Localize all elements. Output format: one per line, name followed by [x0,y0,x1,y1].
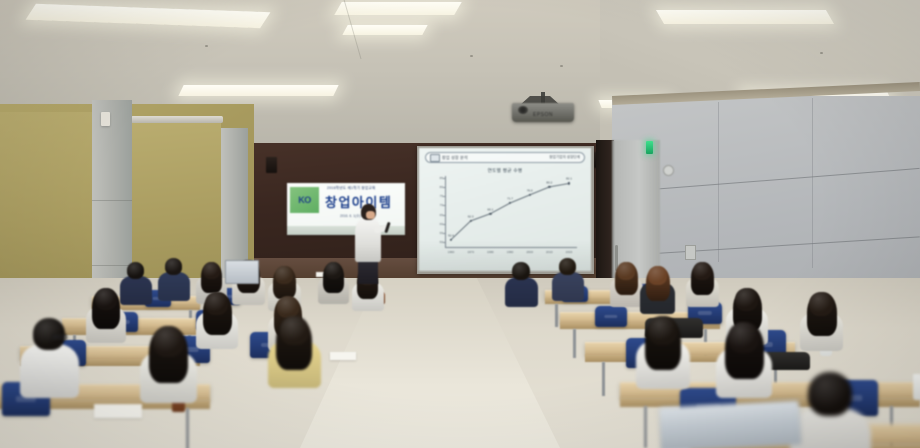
person-head [728,322,759,353]
eyeglasses-icon [52,334,67,340]
person-torso [505,277,538,307]
wall-clock-icon [663,165,674,176]
person-torso [552,272,584,301]
desk-leg [644,406,647,448]
person-head [735,288,758,311]
chart-data-label: 82.1 [566,177,572,181]
ceiling-light [178,85,338,96]
projector: EPSON [512,103,574,122]
person-head [693,262,711,280]
chart-data-label: 52.4 [448,233,454,237]
chart-data-label: 62.3 [468,214,474,218]
chart-line-series [445,176,577,248]
person-head [203,262,220,279]
person-head [127,262,144,279]
wall-panel-divider [812,98,813,268]
column-seam [92,265,132,266]
notebook-paper [94,404,142,418]
person-head [95,288,117,310]
person-head [280,316,309,345]
motion-sensor-icon [101,112,110,126]
chart-x-tick-label: 1960 [448,250,455,254]
person-head [559,258,576,275]
ceiling-speck [205,45,208,47]
slide-header-title: 창업 성장 분석 [442,155,468,161]
chart-x-tick-label: 1970 [467,250,474,254]
desk-leg [186,408,189,448]
banner-subtitle: 2016학년도 제1학기 창업교육 [327,186,375,191]
chair-back-slot [604,315,617,318]
ceiling-speck [470,55,473,57]
person-head [325,262,342,279]
chart-x-tick-label: 2000 [526,250,533,254]
desk-leg [602,362,605,396]
person-head [617,262,635,280]
wall-speaker [266,157,277,173]
exit-sign-icon [646,141,653,154]
chart-y-tick-mark [443,233,445,234]
person-head [512,262,530,280]
desk-leg [555,304,558,327]
person-torso [158,272,190,301]
ceiling-speck [560,65,563,67]
ceiling-speck [820,52,823,54]
banner-logo-text: KO [298,195,311,205]
ceiling-light [334,2,462,15]
person-head [165,258,182,275]
column-seam [92,200,132,201]
person-head [205,292,228,315]
chart-y-tick-mark [443,205,445,206]
person-head [277,296,299,318]
chart-plot-area: 8580757065605550196019701980199020002010… [445,176,577,248]
drink-cup [913,374,920,400]
person-head [648,266,667,285]
chart-y-tick-mark [443,178,445,179]
banner-logo: KO [290,187,319,213]
chair-back-slot [698,311,712,315]
person-head [648,316,677,345]
chart-x-tick-label: 1980 [487,250,494,254]
person-head [808,372,852,416]
slide-header-right: 창업기업의 성장단계 [549,155,580,160]
chart-y-tick-mark [443,224,445,225]
person-head [153,326,184,357]
light-switch-plate[interactable] [685,245,696,260]
desk-leg [573,329,576,358]
projector-brand-label: EPSON [512,112,574,118]
blind-roller[interactable] [131,116,223,123]
person-head [809,292,833,316]
slide-header: 창업 성장 분석 창업기업의 성장단계 [425,152,585,163]
chart-line [451,183,569,239]
chart-x-tick-label: 1990 [507,250,514,254]
person-head [275,266,293,284]
classroom-photo: EPSON KO 2016학년도 제1학기 창업교육 창업아이템 2016. 6… [0,0,920,448]
chart-y-tick-mark [443,187,445,188]
chart-data-label: 71.7 [507,196,513,200]
chair [595,306,627,327]
slide-header-left: 창업 성장 분석 [430,154,468,162]
ceiling-light [656,10,834,24]
notebook-paper [330,352,356,360]
ceiling-light [342,25,427,35]
chart-data-label: 80.2 [546,180,552,184]
person-torso [120,276,152,305]
chart-title: 연도별 평균 수명 [419,168,591,174]
presenter-torso [355,218,381,262]
laptop-foreground[interactable] [659,400,801,448]
banner-title: 창업아이템 [325,192,392,211]
chart-y-tick-mark [443,196,445,197]
projected-slide: 창업 성장 분석 창업기업의 성장단계 연도별 평균 수명 8580757065… [419,148,591,271]
presenter-face [366,211,375,219]
chart-data-label: 66.1 [487,207,493,211]
chart-x-tick-label: 2015 [566,250,573,254]
chart-data-label: 76.0 [527,188,533,192]
person-torso [20,344,79,398]
wall-panel-divider [718,102,719,262]
slide-chip-icon [430,154,440,162]
chart-y-tick-mark [443,242,445,243]
chart-x-tick-label: 2010 [546,250,553,254]
chart-y-tick-mark [443,215,445,216]
laptop-midrow[interactable] [225,260,259,284]
